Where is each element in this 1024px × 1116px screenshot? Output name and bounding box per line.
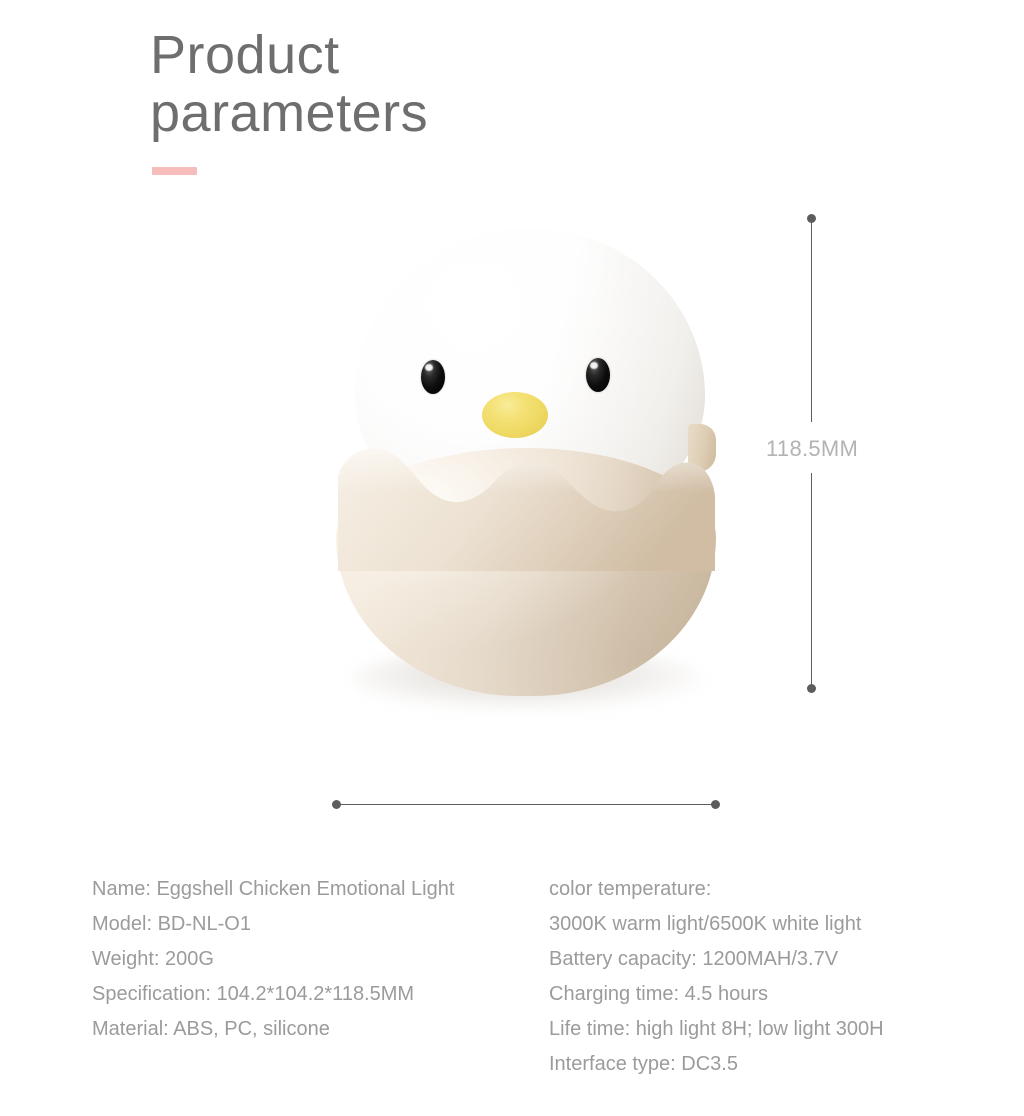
product-image: [0, 0, 1024, 760]
dimension-line-segment: [337, 804, 715, 805]
dimension-endpoint-dot: [711, 800, 720, 809]
spec-line: Charging time: 4.5 hours: [549, 977, 1009, 1012]
spec-line: Battery capacity: 1200MAH/3.7V: [549, 942, 1009, 977]
dimension-line-segment: [811, 473, 812, 689]
spec-line: Interface type: DC3.5: [549, 1047, 1009, 1082]
spec-line: Model: BD-NL-O1: [92, 907, 532, 942]
spec-line: Name: Eggshell Chicken Emotional Light: [92, 872, 532, 907]
spec-line: 3000K warm light/6500K white light: [549, 907, 1009, 942]
spec-line: color temperature:: [549, 872, 1009, 907]
spec-line: Specification: 104.2*104.2*118.5MM: [92, 977, 532, 1012]
dimension-height-label: 118.5MM: [766, 436, 886, 462]
spec-line: Weight: 200G: [92, 942, 532, 977]
spec-column-right: color temperature: 3000K warm light/6500…: [549, 872, 1009, 1082]
shell-side-tab: [688, 424, 716, 472]
spec-line: Material: ABS, PC, silicone: [92, 1012, 532, 1047]
spec-line: Life time: high light 8H; low light 300H: [549, 1012, 1009, 1047]
dimension-endpoint-dot: [807, 684, 816, 693]
chicken-eye-left-icon: [421, 360, 445, 394]
chicken-beak-icon: [482, 392, 548, 438]
chicken-eye-right-icon: [586, 358, 610, 392]
dimension-line-segment: [811, 219, 812, 422]
spec-column-left: Name: Eggshell Chicken Emotional Light M…: [92, 872, 532, 1047]
